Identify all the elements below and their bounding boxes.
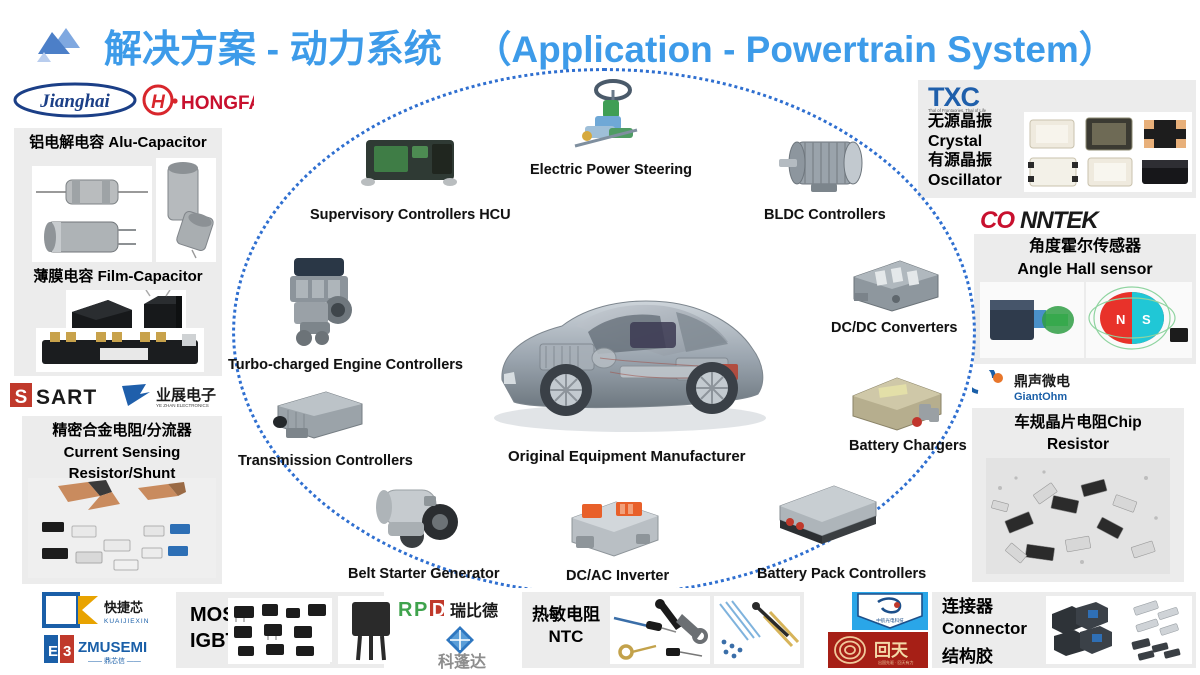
label-turbo-engine: Turbo-charged Engine Controllers [228, 357, 463, 373]
svg-text:N: N [1116, 312, 1125, 327]
svg-text:R: R [398, 599, 413, 621]
slide-canvas: 解决方案 - 动力系统 （Application - Powertrain Sy… [0, 0, 1200, 674]
panel-ntc: 热敏电阻 NTC [522, 592, 804, 668]
txc-text-block: 无源晶振 Crystal 有源晶振 Oscillator [928, 112, 1002, 190]
panel-current-sensing-line2: Current Sensing [22, 440, 222, 462]
triangle-logo-icon [36, 24, 98, 66]
ntc-line2: NTC [530, 626, 602, 648]
panel-chip-resistor: 车规晶片电阻Chip Resistor [972, 408, 1184, 582]
photo-crystals [1024, 112, 1192, 192]
image-oem-car [480, 262, 780, 442]
logo-zmusemi: E 3 ZMUSEMI —— 鼎芯信 —— [42, 632, 162, 666]
logo-rpd: R P D 瑞比德 [396, 594, 528, 624]
chip-resistor-line2: Resistor [972, 432, 1184, 454]
chip-resistor-line1: 车规晶片电阻Chip [972, 408, 1184, 432]
logo-sart: S SART [10, 382, 116, 408]
svg-text:P: P [414, 599, 427, 621]
svg-text:瑞比德: 瑞比德 [450, 601, 498, 620]
logo-yezhan: 业展电子 YE ZHAN ELECTRONICS [120, 380, 226, 410]
page-title: 解决方案 - 动力系统 （Application - Powertrain Sy… [104, 18, 1116, 73]
svg-text:YE ZHAN ELECTRONICS: YE ZHAN ELECTRONICS [156, 403, 209, 408]
svg-text:—— 鼎芯信 ——: —— 鼎芯信 —— [88, 656, 141, 665]
photo-igbt-module [338, 596, 404, 664]
svg-text:SART: SART [36, 386, 97, 408]
txc-line2: Crystal [928, 132, 1002, 152]
connector-text: 连接器 Connector [942, 596, 1027, 640]
photo-chip-resistors [986, 458, 1170, 574]
photo-ntc-probes [714, 596, 800, 664]
svg-text:中航光电科技: 中航光电科技 [876, 617, 904, 624]
logo-jianghai: Jianghai [12, 82, 138, 118]
panel-capacitors-title: 铝电解电容 Alu-Capacitor [14, 128, 222, 152]
panel-connector: 连接器 Connector 结构胶 [932, 592, 1196, 668]
photo-hall-motor [980, 282, 1084, 358]
image-belt-starter-generator [368, 478, 472, 556]
svg-text:S: S [1142, 312, 1151, 327]
logo-hongfa: H HONGFA [142, 84, 254, 116]
connector-line1: 连接器 [942, 596, 1027, 618]
logo-giantohm: 鼎声微电 GiantOhm [972, 370, 1172, 404]
svg-text:鼎声微电: 鼎声微电 [1014, 373, 1070, 389]
slide-header: 解决方案 - 动力系统 （Application - Powertrain Sy… [0, 4, 1200, 72]
logo-txc: TXC Thal of Frontaories, Thal of Life [928, 82, 1028, 114]
image-supervisory-controllers-hcu [358, 128, 466, 196]
svg-text:D: D [432, 600, 445, 620]
photo-ntc-sensors [610, 596, 710, 664]
svg-text:E: E [48, 643, 58, 660]
image-battery-pack-controllers [768, 480, 884, 550]
image-dcac-inverter [562, 490, 668, 562]
ntc-line1: 热敏电阻 [530, 604, 602, 626]
svg-text:H: H [151, 92, 166, 113]
image-battery-chargers [845, 370, 949, 436]
image-dcdc-converters [840, 255, 944, 317]
photo-hall-magnet: N S [1086, 282, 1192, 358]
svg-text:NNTEK: NNTEK [1020, 207, 1100, 234]
logo-huitian: 回天 出国先驱 · 回天有力 [828, 632, 928, 668]
svg-text:快捷芯: 快捷芯 [104, 600, 143, 615]
svg-text:业展电子: 业展电子 [156, 386, 216, 404]
svg-text:科蓬达: 科蓬达 [438, 652, 486, 670]
svg-text:CO: CO [980, 207, 1015, 234]
panel-hall-sensor: 角度霍尔传感器 Angle Hall sensor N S [974, 234, 1196, 364]
label-battery-chargers: Battery Chargers [849, 438, 967, 454]
photo-alu-capacitor-right [156, 158, 216, 262]
logo-kuaijiexin: 快捷芯 KUAIJIEXIN [42, 592, 162, 628]
panel-current-sensing: 精密合金电阻/分流器 Current Sensing Resistor/Shun… [22, 416, 222, 584]
image-bldc-controllers [775, 128, 875, 202]
logo-conntek: CO NNTEK [974, 204, 1196, 234]
svg-text:S: S [15, 387, 28, 408]
label-battery-pack-controllers: Battery Pack Controllers [757, 566, 926, 582]
ntc-text: 热敏电阻 NTC [530, 604, 602, 648]
photo-shunt-resistors [28, 478, 216, 578]
photo-connectors [1046, 596, 1192, 664]
photo-mosfet-devices [228, 598, 332, 662]
connector-line2: Connector [942, 618, 1027, 640]
label-electric-power-steering: Electric Power Steering [530, 162, 692, 178]
txc-line4: Oscillator [928, 171, 1002, 191]
logo-kelengda: 科蓬达 [412, 624, 512, 670]
image-transmission-controllers [268, 384, 368, 446]
photo-alu-capacitor-left [32, 166, 152, 262]
svg-text:3: 3 [63, 643, 71, 660]
panel-capacitors: 铝电解电容 Alu-Capacitor [14, 128, 222, 376]
label-dcdc-converters: DC/DC Converters [831, 320, 958, 336]
panel-txc: TXC Thal of Frontaories, Thal of Life 无源… [918, 80, 1196, 198]
label-supervisory-controllers-hcu: Supervisory Controllers HCU [310, 207, 511, 223]
panel-current-sensing-line1: 精密合金电阻/分流器 [22, 416, 222, 440]
svg-text:Jianghai: Jianghai [39, 91, 110, 112]
page-title-en: （Application - Powertrain System） [474, 29, 1115, 70]
adhesive-label: 结构胶 [942, 642, 993, 667]
svg-text:HONGFA: HONGFA [181, 93, 254, 114]
svg-text:KUAIJIEXIN: KUAIJIEXIN [104, 618, 149, 625]
svg-text:回天: 回天 [874, 641, 909, 660]
txc-line1: 无源晶振 [928, 112, 1002, 132]
image-turbo-engine [280, 252, 370, 348]
label-oem: Original Equipment Manufacturer [508, 448, 746, 465]
svg-text:ZMUSEMI: ZMUSEMI [78, 639, 147, 656]
hall-sensor-line1: 角度霍尔传感器 [974, 234, 1196, 257]
label-bldc-controllers: BLDC Controllers [764, 207, 886, 223]
txc-line3: 有源晶振 [928, 151, 1002, 171]
image-electric-power-steering [565, 78, 655, 156]
label-dcac-inverter: DC/AC Inverter [566, 568, 669, 584]
svg-text:GiantOhm: GiantOhm [1014, 391, 1067, 403]
page-title-cn: 解决方案 - 动力系统 [104, 29, 442, 71]
logo-connector-brand: 中航光电科技 [852, 592, 928, 630]
svg-text:出国先驱 · 回天有力: 出国先驱 · 回天有力 [878, 659, 914, 665]
hall-sensor-line2: Angle Hall sensor [974, 257, 1196, 280]
photo-power-module [36, 328, 204, 372]
panel-film-capacitor-title: 薄膜电容 Film-Capacitor [14, 264, 222, 286]
label-transmission-controllers: Transmission Controllers [238, 453, 413, 469]
label-belt-starter-generator: Belt Starter Generator [348, 566, 500, 582]
